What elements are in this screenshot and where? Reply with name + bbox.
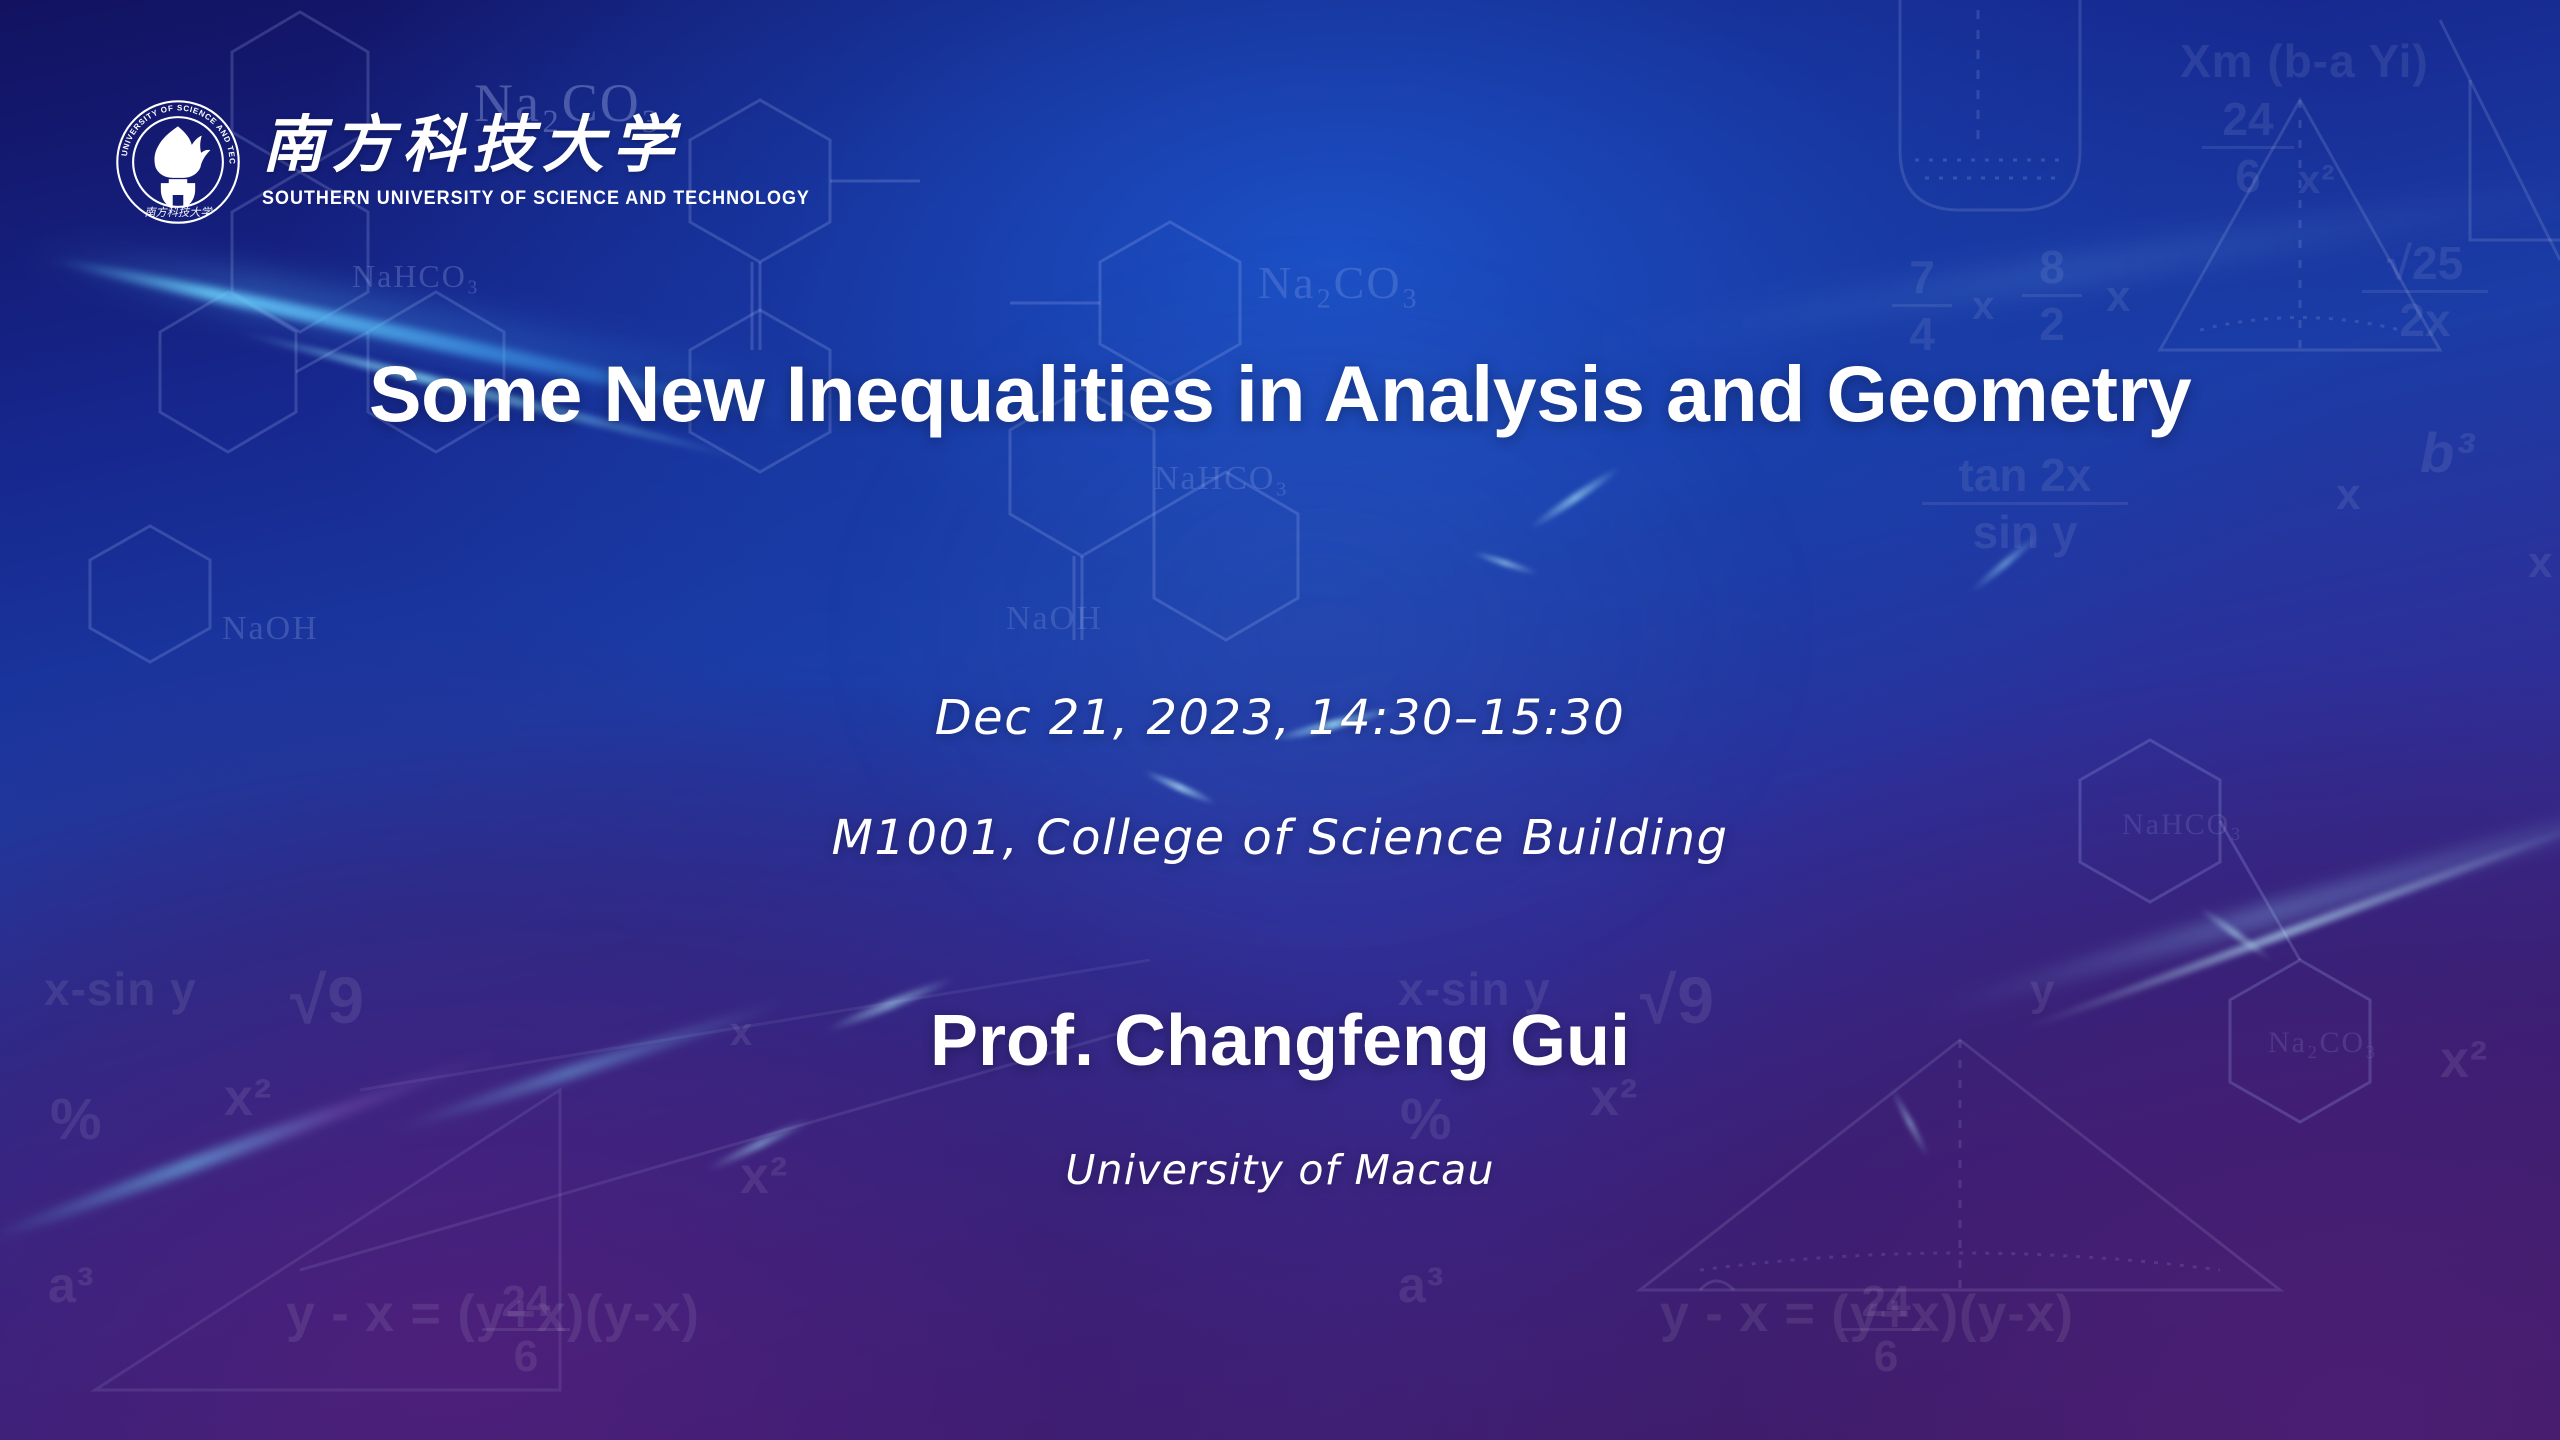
talk-datetime: Dec 21, 2023, 14:30–15:30	[0, 690, 2560, 746]
light-spark	[1142, 768, 1218, 807]
fraction-numerator: 24	[1840, 1280, 1932, 1324]
chem-formula: NaHCO₃	[1154, 460, 1289, 498]
wordmark-english: SOUTHERN UNIVERSITY OF SCIENCE AND TECHN…	[262, 187, 810, 210]
fraction-numerator: 8	[2020, 244, 2084, 290]
fraction-numerator: 24	[480, 1280, 572, 1324]
chem-formula: Na₂CO₃	[1258, 256, 1420, 309]
talk-venue: M1001, College of Science Building	[0, 810, 2560, 866]
light-streak	[1914, 756, 2560, 1025]
math-expression: x	[2106, 272, 2131, 322]
university-seal-icon: SOUTHERN UNIVERSITY OF SCIENCE AND TECHN…	[112, 96, 244, 228]
math-expression: x	[1972, 284, 1995, 329]
math-fraction: 24 6	[480, 1280, 572, 1379]
fraction-denominator: 2x	[2360, 297, 2490, 343]
fraction-denominator: 6	[1840, 1335, 1932, 1379]
light-spark	[1968, 532, 2041, 595]
fraction-bar	[482, 1328, 570, 1331]
fraction-bar	[1922, 502, 2128, 505]
fraction-numerator: 24	[2200, 96, 2296, 142]
wordmark: 南方科技大学 SOUTHERN UNIVERSITY OF SCIENCE AN…	[262, 114, 858, 209]
chem-formula: NaOH	[222, 610, 319, 648]
fraction-numerator: tan 2x	[1920, 452, 2130, 498]
chem-formula: NaOH	[1006, 600, 1103, 638]
light-spark	[2197, 904, 2274, 963]
math-expression: a³	[1398, 1256, 1444, 1314]
math-fraction: 8 2	[2020, 244, 2084, 347]
math-expression: %	[1400, 1086, 1453, 1153]
university-logo: SOUTHERN UNIVERSITY OF SCIENCE AND TECHN…	[112, 96, 858, 228]
light-spark	[1471, 549, 1539, 576]
math-expression: y - x = (y+x)(y-x)	[1660, 1284, 2074, 1344]
math-fraction: tan 2x sin y	[1920, 452, 2130, 555]
light-streak	[1564, 164, 2560, 366]
math-fraction: 7 4	[1890, 254, 1954, 357]
seal-bottom-text: 南方科技大学	[144, 206, 213, 219]
fraction-denominator: 6	[480, 1335, 572, 1379]
talk-title: Some New Inequalities in Analysis and Ge…	[0, 348, 2560, 440]
math-expression: x²	[2298, 158, 2336, 203]
fraction-denominator: 6	[2200, 153, 2296, 199]
fraction-denominator: sin y	[1920, 509, 2130, 555]
fraction-bar	[2022, 294, 2082, 297]
math-expression: %	[50, 1086, 103, 1153]
fraction-bar	[2362, 290, 2488, 293]
math-fraction: √25 2x	[2360, 240, 2490, 343]
fraction-numerator: 7	[1890, 254, 1954, 300]
light-spark	[1527, 464, 1623, 532]
math-expression: x	[2528, 538, 2553, 588]
fraction-bar	[1892, 304, 1952, 307]
fraction-numerator: √25	[2360, 240, 2490, 286]
fraction-bar	[1842, 1328, 1930, 1331]
wordmark-chinese: 南方科技大学	[262, 114, 858, 179]
seminar-poster: Xm (b-a Yi) x-sin y x-sin y √9 √9 x y % …	[0, 0, 2560, 1440]
math-expression: a³	[48, 1256, 94, 1314]
math-expression: y - x = (y+x)(y-x)	[286, 1284, 700, 1344]
math-expression: x	[2336, 470, 2361, 520]
speaker-name: Prof. Changfeng Gui	[0, 1000, 2560, 1082]
math-fraction: 24 6	[2200, 96, 2296, 199]
fraction-bar	[2202, 146, 2294, 149]
fraction-denominator: 2	[2020, 301, 2084, 347]
chem-formula: NaHCO₃	[352, 258, 480, 295]
math-fraction: 24 6	[1840, 1280, 1932, 1379]
math-expression: Xm (b-a Yi)	[2180, 34, 2429, 88]
speaker-affiliation: University of Macau	[0, 1146, 2560, 1194]
